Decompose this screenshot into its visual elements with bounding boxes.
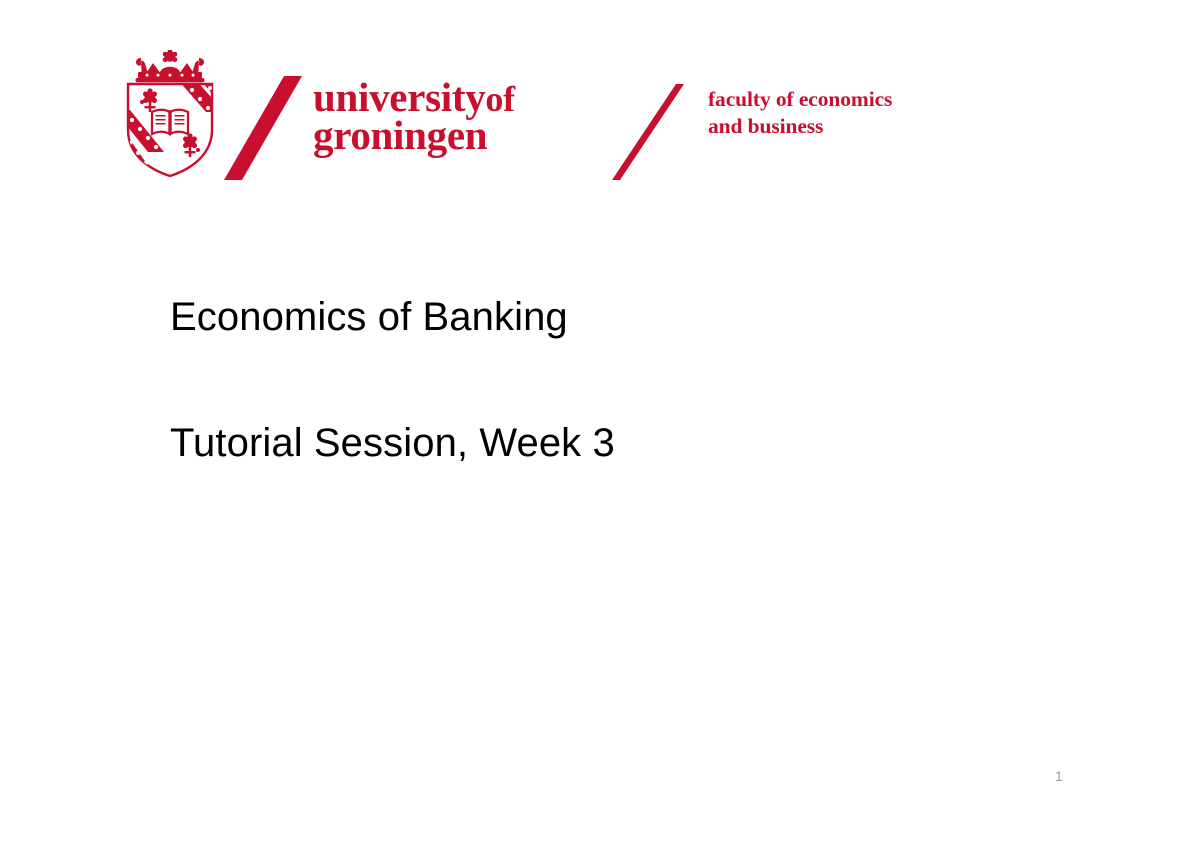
crest-open-book xyxy=(152,110,188,135)
page-title: Economics of Banking xyxy=(170,297,1070,337)
university-wordmark: universityof groningen xyxy=(313,78,515,155)
page-subtitle: Tutorial Session, Week 3 xyxy=(170,423,1070,463)
page-number: 1 xyxy=(1055,768,1095,784)
faculty-wordmark: faculty of economics and business xyxy=(708,86,892,140)
slide-canvas: universityof groningen faculty of econom… xyxy=(0,0,1200,848)
university-logo-bar: universityof groningen faculty of econom… xyxy=(0,0,1200,200)
title-spacer xyxy=(170,337,1070,423)
wordmark-line-2: groningen xyxy=(313,116,515,154)
title-block: Economics of Banking Tutorial Session, W… xyxy=(170,297,1070,463)
faculty-slash-divider-icon xyxy=(612,84,684,180)
wordmark-line-1: universityof xyxy=(313,78,515,116)
faculty-line-2: and business xyxy=(708,113,892,140)
faculty-line-1: faculty of economics xyxy=(708,86,892,113)
wordmark-of: of xyxy=(485,79,514,119)
logo-slash-divider-icon xyxy=(224,76,302,180)
coat-of-arms-icon xyxy=(120,50,220,178)
